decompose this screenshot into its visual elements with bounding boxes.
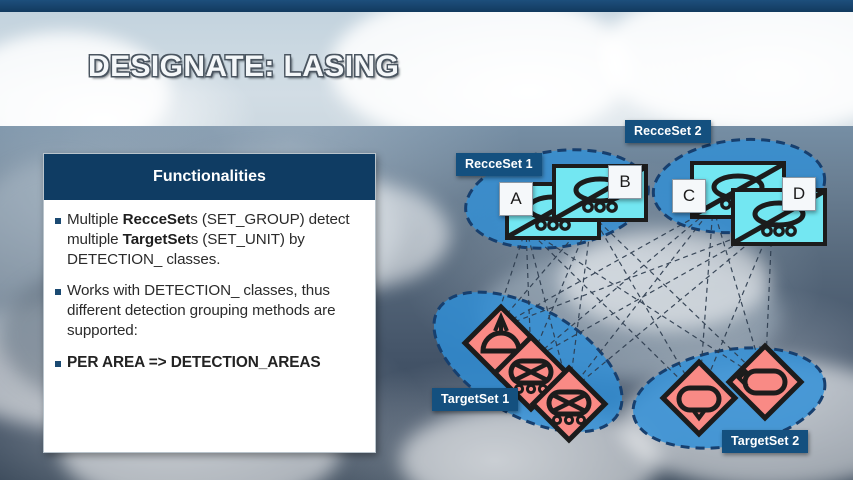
- recce-unit-c-letter: C: [683, 186, 695, 206]
- recce-unit-d-label[interactable]: D: [782, 177, 816, 211]
- recce-unit-a-letter: A: [510, 189, 521, 209]
- bullet-item: PER AREA => DETECTION_AREAS: [52, 353, 363, 373]
- functionalities-panel-header: Functionalities: [44, 154, 375, 200]
- bullet-text: Works with DETECTION_ classes, thus diff…: [67, 281, 363, 340]
- bullet-text: PER AREA => DETECTION_AREAS: [67, 353, 321, 373]
- bullet-marker-icon: [55, 289, 61, 295]
- group-tag-target-set-2[interactable]: TargetSet 2: [722, 430, 808, 453]
- bullet-marker-icon: [55, 361, 61, 367]
- bullet-item: Multiple RecceSets (SET_GROUP) detect mu…: [52, 210, 363, 269]
- functionalities-panel: Functionalities Multiple RecceSets (SET_…: [43, 153, 376, 453]
- functionalities-panel-title: Functionalities: [153, 168, 266, 186]
- bullet-marker-icon: [55, 218, 61, 224]
- group-tag-recce-set-1[interactable]: RecceSet 1: [456, 153, 542, 176]
- recce-unit-b-letter: B: [619, 172, 630, 192]
- recce-unit-a-label[interactable]: A: [499, 182, 533, 216]
- recce-unit-d-letter: D: [793, 184, 805, 204]
- group-tag-recce-set-2[interactable]: RecceSet 2: [625, 120, 711, 143]
- slide-canvas: DESIGNATE: LASING: [0, 0, 853, 480]
- bullet-item: Works with DETECTION_ classes, thus diff…: [52, 281, 363, 340]
- recce-unit-c-label[interactable]: C: [672, 179, 706, 213]
- bullet-text: Multiple RecceSets (SET_GROUP) detect mu…: [67, 210, 363, 269]
- functionalities-panel-body: Multiple RecceSets (SET_GROUP) detect mu…: [44, 200, 375, 393]
- group-tag-target-set-1[interactable]: TargetSet 1: [432, 388, 518, 411]
- recce-unit-b-label[interactable]: B: [608, 165, 642, 199]
